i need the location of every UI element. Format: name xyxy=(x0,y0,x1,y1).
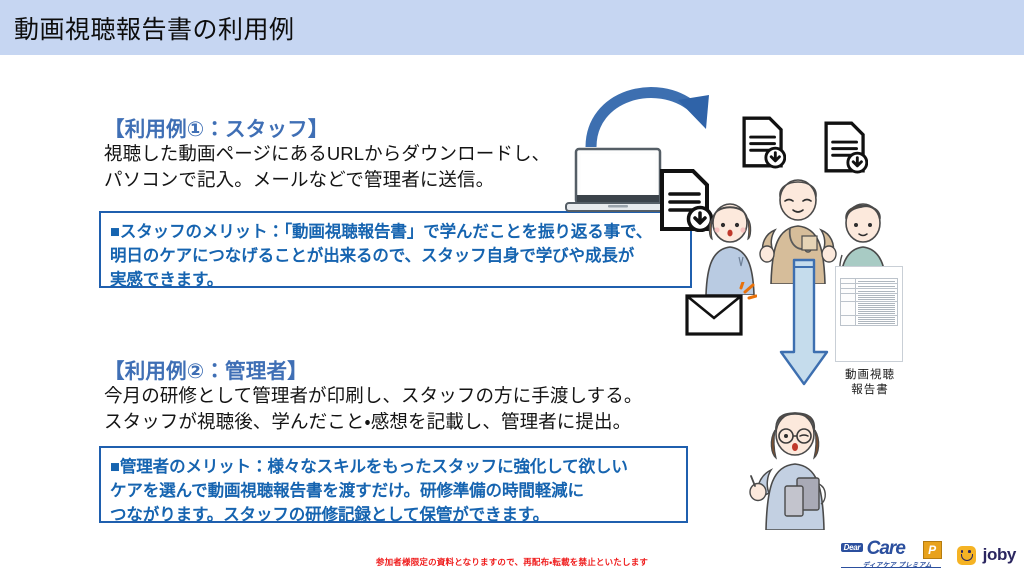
joby-smiley-icon xyxy=(957,546,976,565)
report-thumbnail xyxy=(835,266,903,362)
footer-logos: Dear Care P ディアケア プレミアム joby xyxy=(839,540,1016,570)
envelope-icon xyxy=(683,282,757,338)
dearcare-logo-premium-mark: P xyxy=(923,541,942,559)
joby-logo-text: joby xyxy=(983,545,1016,565)
section-1-heading: 【利用例①：スタッフ】 xyxy=(104,112,329,142)
curved-arrow-icon xyxy=(585,73,715,153)
page-title: 動画視聴報告書の利用例 xyxy=(14,10,295,46)
joby-logo: joby xyxy=(957,545,1016,565)
report-thumbnail-caption: 動画視聴 報告書 xyxy=(820,368,920,398)
slide-title-bar: 動画視聴報告書の利用例 xyxy=(0,0,1024,55)
dearcare-logo: Dear Care P ディアケア プレミアム xyxy=(839,540,943,570)
report-thumbnail-table xyxy=(840,278,898,326)
dearcare-logo-care: Care xyxy=(867,538,905,560)
illustration-stage: 動画視聴 報告書 xyxy=(540,60,1024,540)
section-2-heading: 【利用例②：管理者】 xyxy=(104,354,308,384)
joby-smile-arc xyxy=(961,554,973,561)
laptop-icon xyxy=(564,145,672,225)
dearcare-logo-dear: Dear xyxy=(841,543,864,552)
report-thumbnail-header xyxy=(840,272,898,276)
dearcare-logo-rule xyxy=(841,567,941,568)
section-1-body: 視聴した動画ページにあるURLからダウンロードし、 パソコンで記入。メールなどで… xyxy=(104,141,550,193)
